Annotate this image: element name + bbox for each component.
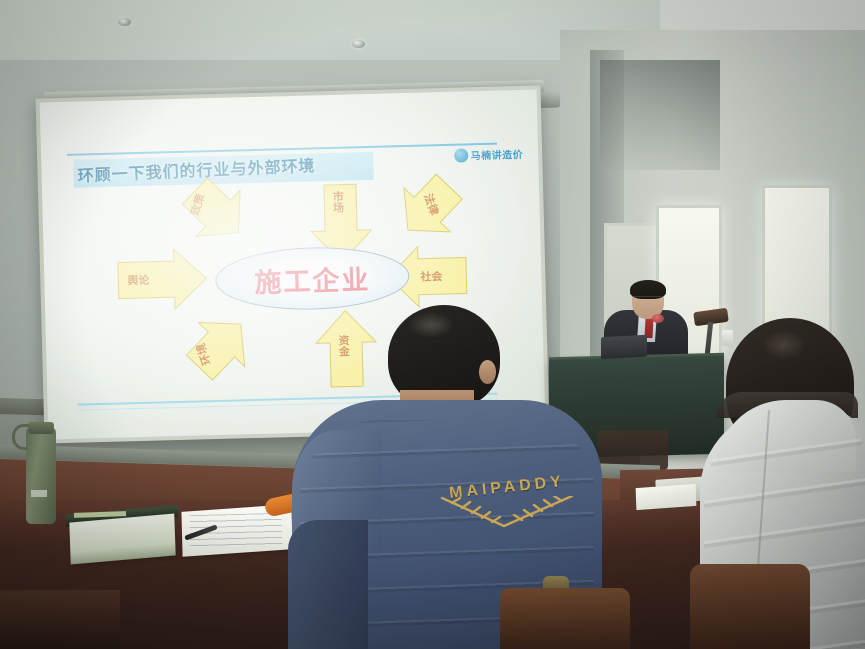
thermos-cap <box>28 422 54 434</box>
ceiling-downlight <box>352 40 365 48</box>
wall-shadow <box>600 60 720 170</box>
paper-right <box>636 484 697 510</box>
ceiling-downlight <box>118 18 131 26</box>
microphone-icon <box>652 314 664 323</box>
laptop <box>601 335 647 359</box>
arrow-label-capital: 资金 <box>335 334 352 356</box>
attendee-blue-vest-arm <box>288 520 368 649</box>
green-thermos-bottle <box>26 428 56 524</box>
conference-room-photo: 环顾一下我们的行业与外部环境 马楠讲造价 <box>0 0 865 649</box>
attendee-blue-vest-hair-highlight <box>408 312 454 338</box>
arrow-label-market: 市场 <box>329 191 346 213</box>
attendee-blue-vest-ear <box>479 360 496 384</box>
center-label: 施工企业 <box>254 257 371 299</box>
vest-logo: MAIPADDY <box>432 479 582 497</box>
arrow-label-society: 社会 <box>420 268 442 285</box>
attendee-white-coat-hair-highlight <box>762 330 806 360</box>
wheat-sheaf-icon <box>434 496 580 530</box>
paper-cup <box>722 330 733 346</box>
thermos-label <box>31 490 47 497</box>
presenter-glasses <box>634 296 661 302</box>
arrow-shape-environment <box>176 302 264 390</box>
chair-back-front-right <box>690 564 810 649</box>
chair-back-front-center <box>500 588 630 649</box>
chair-back-front-left <box>0 590 120 649</box>
arrow-label-opinion: 舆论 <box>127 272 149 289</box>
